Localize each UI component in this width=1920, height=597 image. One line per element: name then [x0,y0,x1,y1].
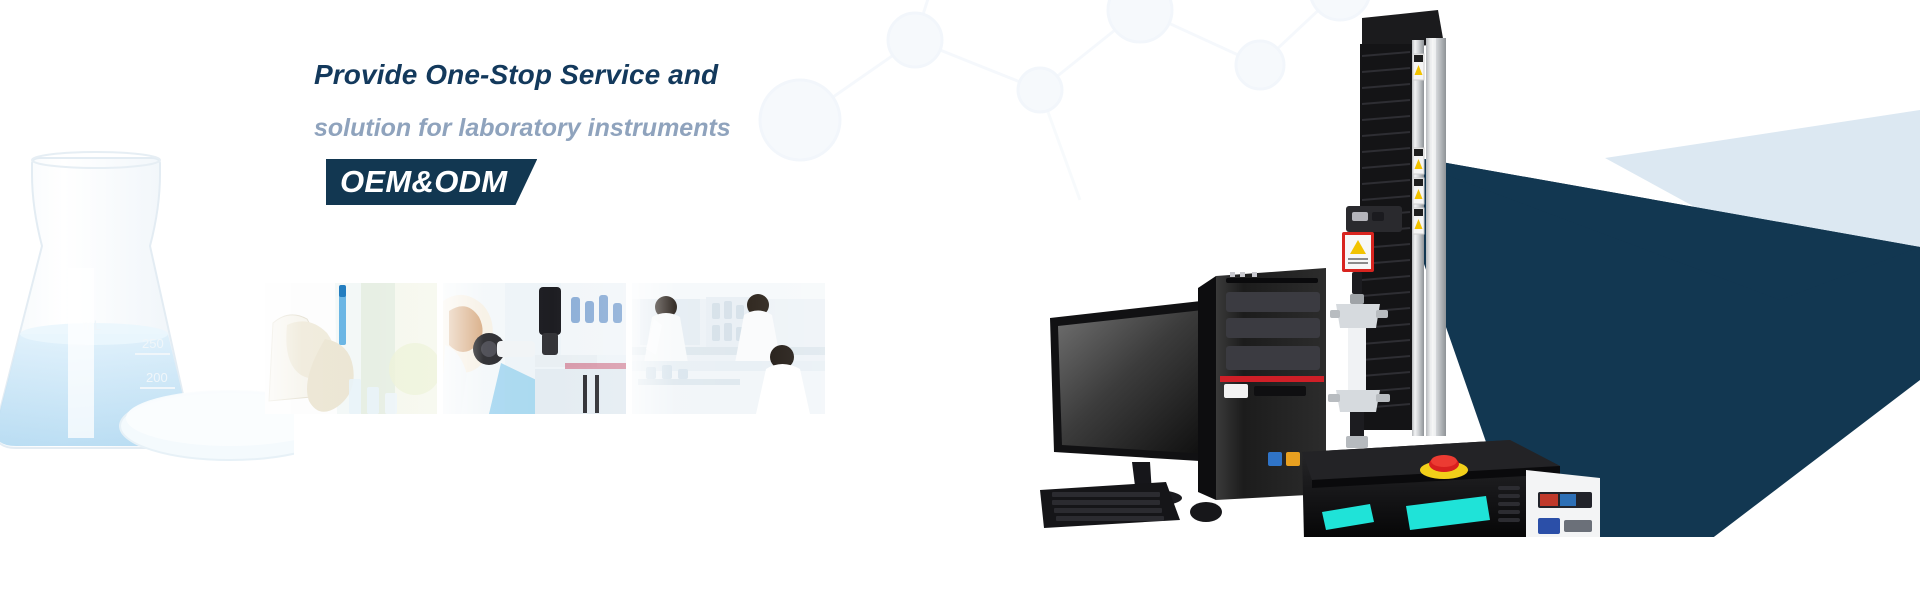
keyboard [1040,482,1222,528]
photo-microscope [443,283,626,414]
photo-lab-bench [632,283,825,414]
headline-primary: Provide One-Stop Service and [314,58,934,92]
headline-secondary: solution for laboratory instruments [314,113,934,143]
svg-text:250: 250 [142,336,164,351]
erlenmeyer-flask: 250 200 150 mL [0,96,294,486]
oem-odm-badge-wrapper: OEM&ODM [326,159,537,205]
product-group [1040,0,1640,560]
photo-strip [265,283,825,414]
load-cell [1342,232,1374,272]
hero-banner: 250 200 150 mL Provide One-Stop Service … [0,0,1920,597]
oem-odm-badge: OEM&ODM [326,159,537,205]
warning-label [1413,54,1424,80]
tensile-testing-machine [1302,10,1600,560]
photo-pipetting [265,283,437,414]
warning-label [1413,208,1424,234]
warning-label [1413,148,1424,174]
desktop-monitor [1050,300,1216,507]
warning-label [1413,178,1424,204]
bottom-spacer [0,537,1920,597]
svg-text:200: 200 [146,370,168,385]
mouse [1190,502,1222,522]
headline-block: Provide One-Stop Service and solution fo… [314,58,934,205]
